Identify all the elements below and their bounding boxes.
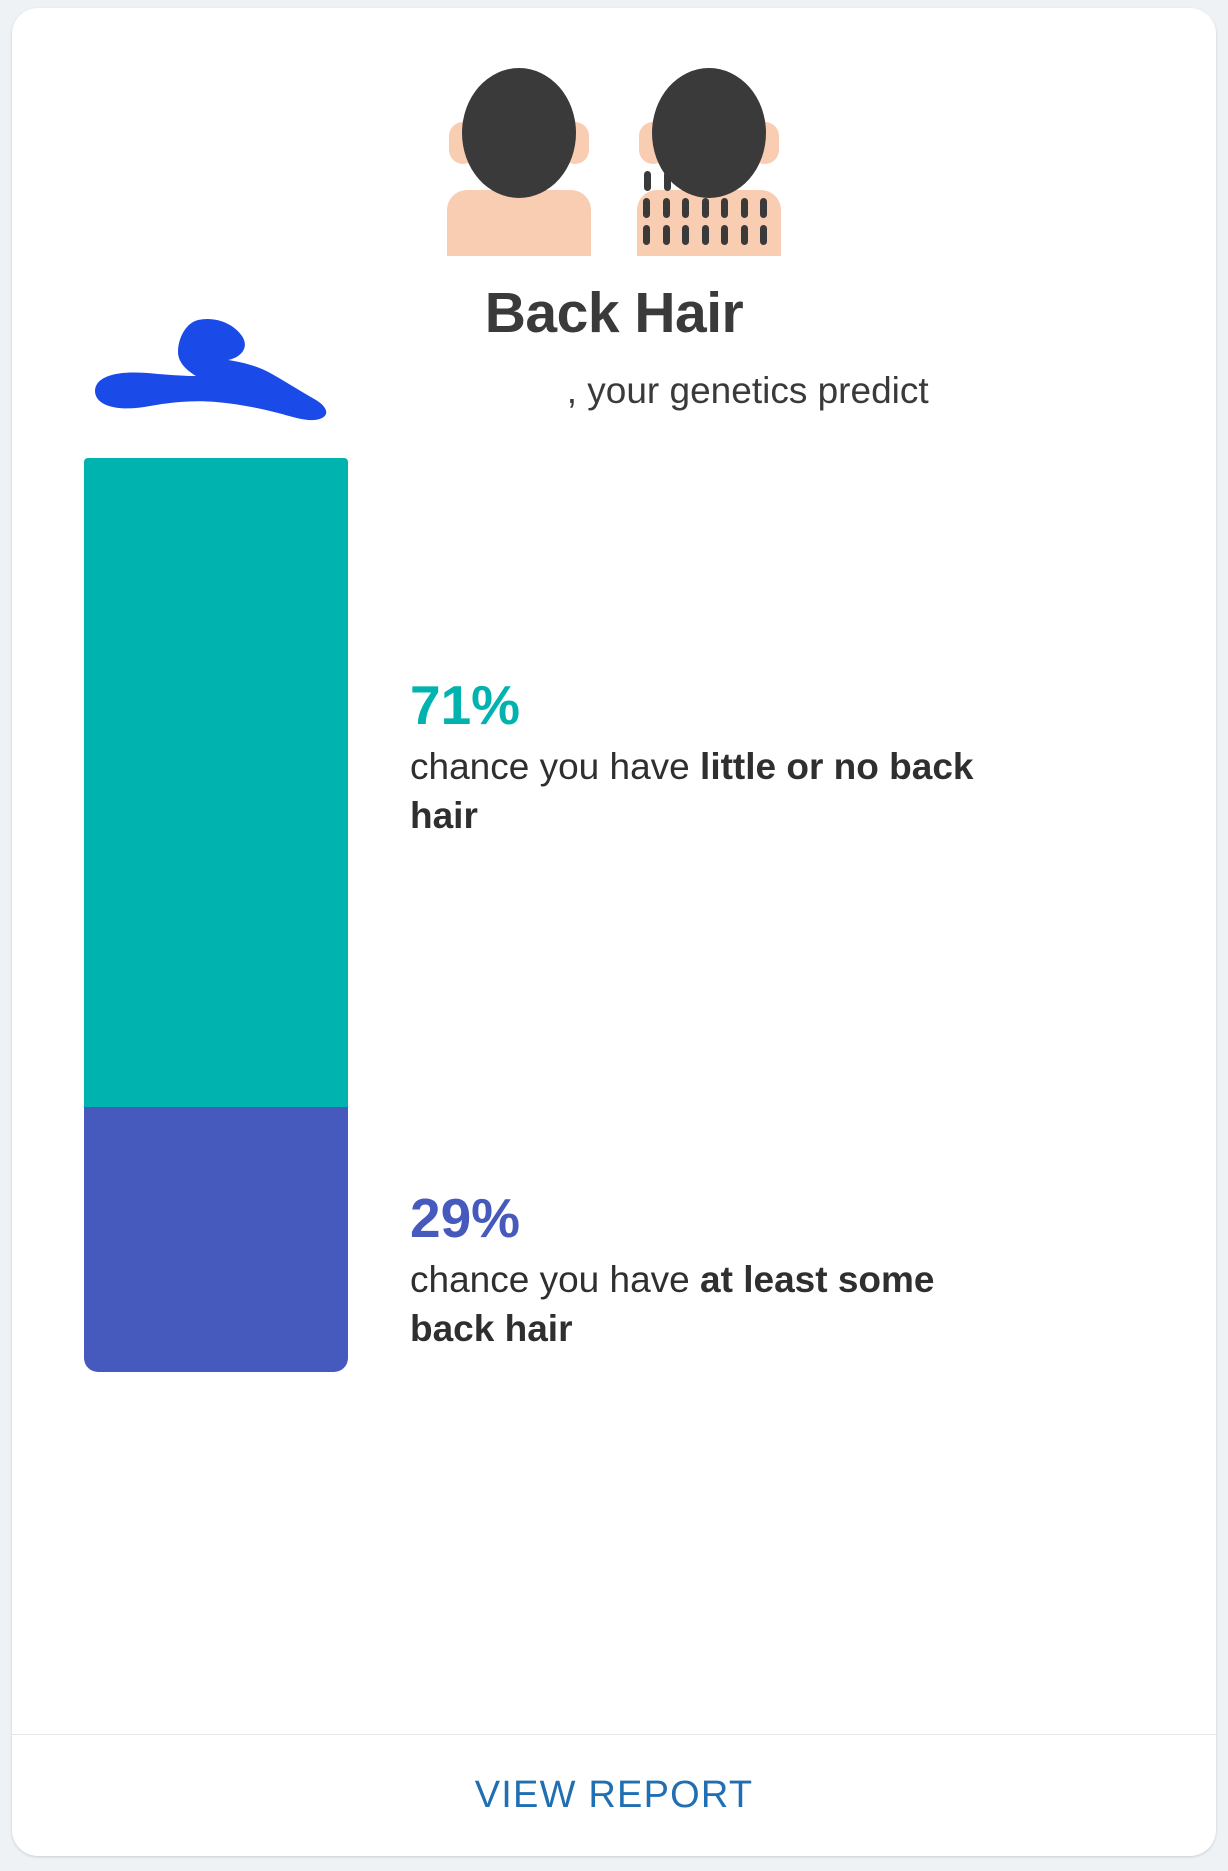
stat-some-back-hair: 29% chance you have at least some back h… (410, 1186, 1000, 1353)
bar-segment-some-back-hair (84, 1107, 348, 1372)
stat-little-or-no-back-hair: 71% chance you have little or no back ha… (410, 673, 1000, 840)
card-body: Back Hair [name redacted], your genetics… (12, 8, 1216, 1734)
stat-percentage: 29% (410, 1186, 1000, 1251)
trait-title: Back Hair (12, 280, 1216, 346)
stat-percentage: 71% (410, 673, 1000, 738)
trait-subtitle: [name redacted], your genetics predict (12, 370, 1216, 412)
hair-row (643, 198, 767, 218)
back-hair-strands-icon (643, 171, 767, 252)
torso-shape (447, 190, 591, 256)
stat-description: chance you have at least some back hair (410, 1255, 1000, 1353)
probability-bar-chart (84, 458, 348, 1372)
stat-description-plain: chance you have (410, 1259, 700, 1300)
stat-description: chance you have little or no back hair (410, 742, 1000, 840)
stat-description-plain: chance you have (410, 746, 700, 787)
view-report-button[interactable]: VIEW REPORT (451, 1764, 778, 1827)
hair-row (644, 171, 730, 191)
bar-segment-little-or-no-back-hair (84, 458, 348, 1107)
subtitle-suffix: , your genetics predict (567, 370, 929, 411)
person-with-back-hair-icon (633, 60, 785, 256)
hair-row (643, 225, 767, 245)
person-without-back-hair-icon (443, 60, 595, 256)
trait-illustration (12, 56, 1216, 256)
back-hair-trait-card: Back Hair [name redacted], your genetics… (12, 8, 1216, 1856)
head-icon (462, 68, 576, 198)
card-footer: VIEW REPORT (12, 1734, 1216, 1856)
